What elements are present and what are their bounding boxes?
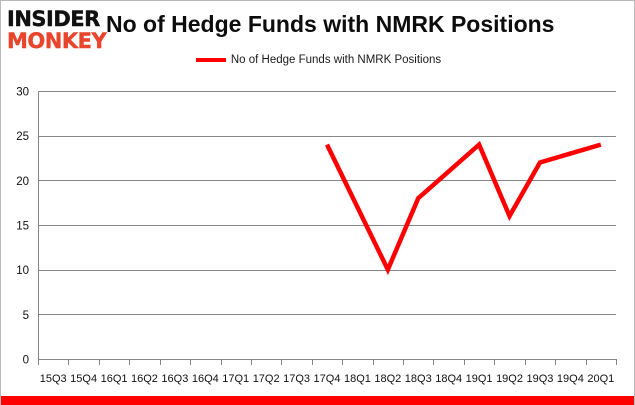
series-line	[327, 145, 601, 270]
x-tick-label: 17Q2	[253, 373, 280, 385]
chart-screenshot: INSIDER MONKEY No of Hedge Funds with NM…	[0, 0, 635, 405]
x-tick-label: 20Q1	[587, 373, 614, 385]
x-tick-label: 17Q3	[283, 373, 310, 385]
x-tick-label: 19Q3	[526, 373, 553, 385]
x-tick-label: 18Q2	[374, 373, 401, 385]
y-tick-label: 5	[23, 310, 29, 322]
y-tick-label: 15	[16, 221, 29, 233]
data-series-lines	[327, 145, 601, 270]
x-tick-label: 18Q3	[405, 373, 432, 385]
x-tick-label: 15Q4	[70, 373, 97, 385]
x-tick-label: 16Q2	[131, 373, 158, 385]
y-axis-tick-labels: 051015202530	[16, 87, 29, 367]
y-tick-label: 0	[23, 355, 29, 367]
line-chart-svg: 051015202530 15Q315Q416Q116Q216Q316Q417Q…	[1, 1, 635, 405]
x-tick-label: 19Q1	[466, 373, 493, 385]
x-tick-label: 16Q4	[192, 373, 219, 385]
plot-area: 051015202530 15Q315Q416Q116Q216Q316Q417Q…	[1, 1, 635, 405]
x-tick-label: 16Q1	[101, 373, 128, 385]
x-tick-label: 18Q1	[344, 373, 371, 385]
y-tick-label: 25	[16, 131, 29, 143]
bottom-accent-bar	[1, 396, 635, 405]
x-tick-label: 19Q4	[557, 373, 584, 385]
grid-lines	[38, 91, 616, 360]
y-tick-label: 20	[16, 176, 29, 188]
x-tick-label: 17Q4	[314, 373, 341, 385]
x-tick-label: 18Q4	[435, 373, 462, 385]
x-axis-tick-labels: 15Q315Q416Q116Q216Q316Q417Q117Q217Q317Q4…	[40, 373, 615, 385]
x-tick-label: 17Q1	[222, 373, 249, 385]
x-tick-label: 15Q3	[40, 373, 67, 385]
y-tick-label: 30	[16, 87, 29, 99]
x-tick-label: 16Q3	[161, 373, 188, 385]
x-tick-label: 19Q2	[496, 373, 523, 385]
y-tick-label: 10	[16, 265, 29, 277]
